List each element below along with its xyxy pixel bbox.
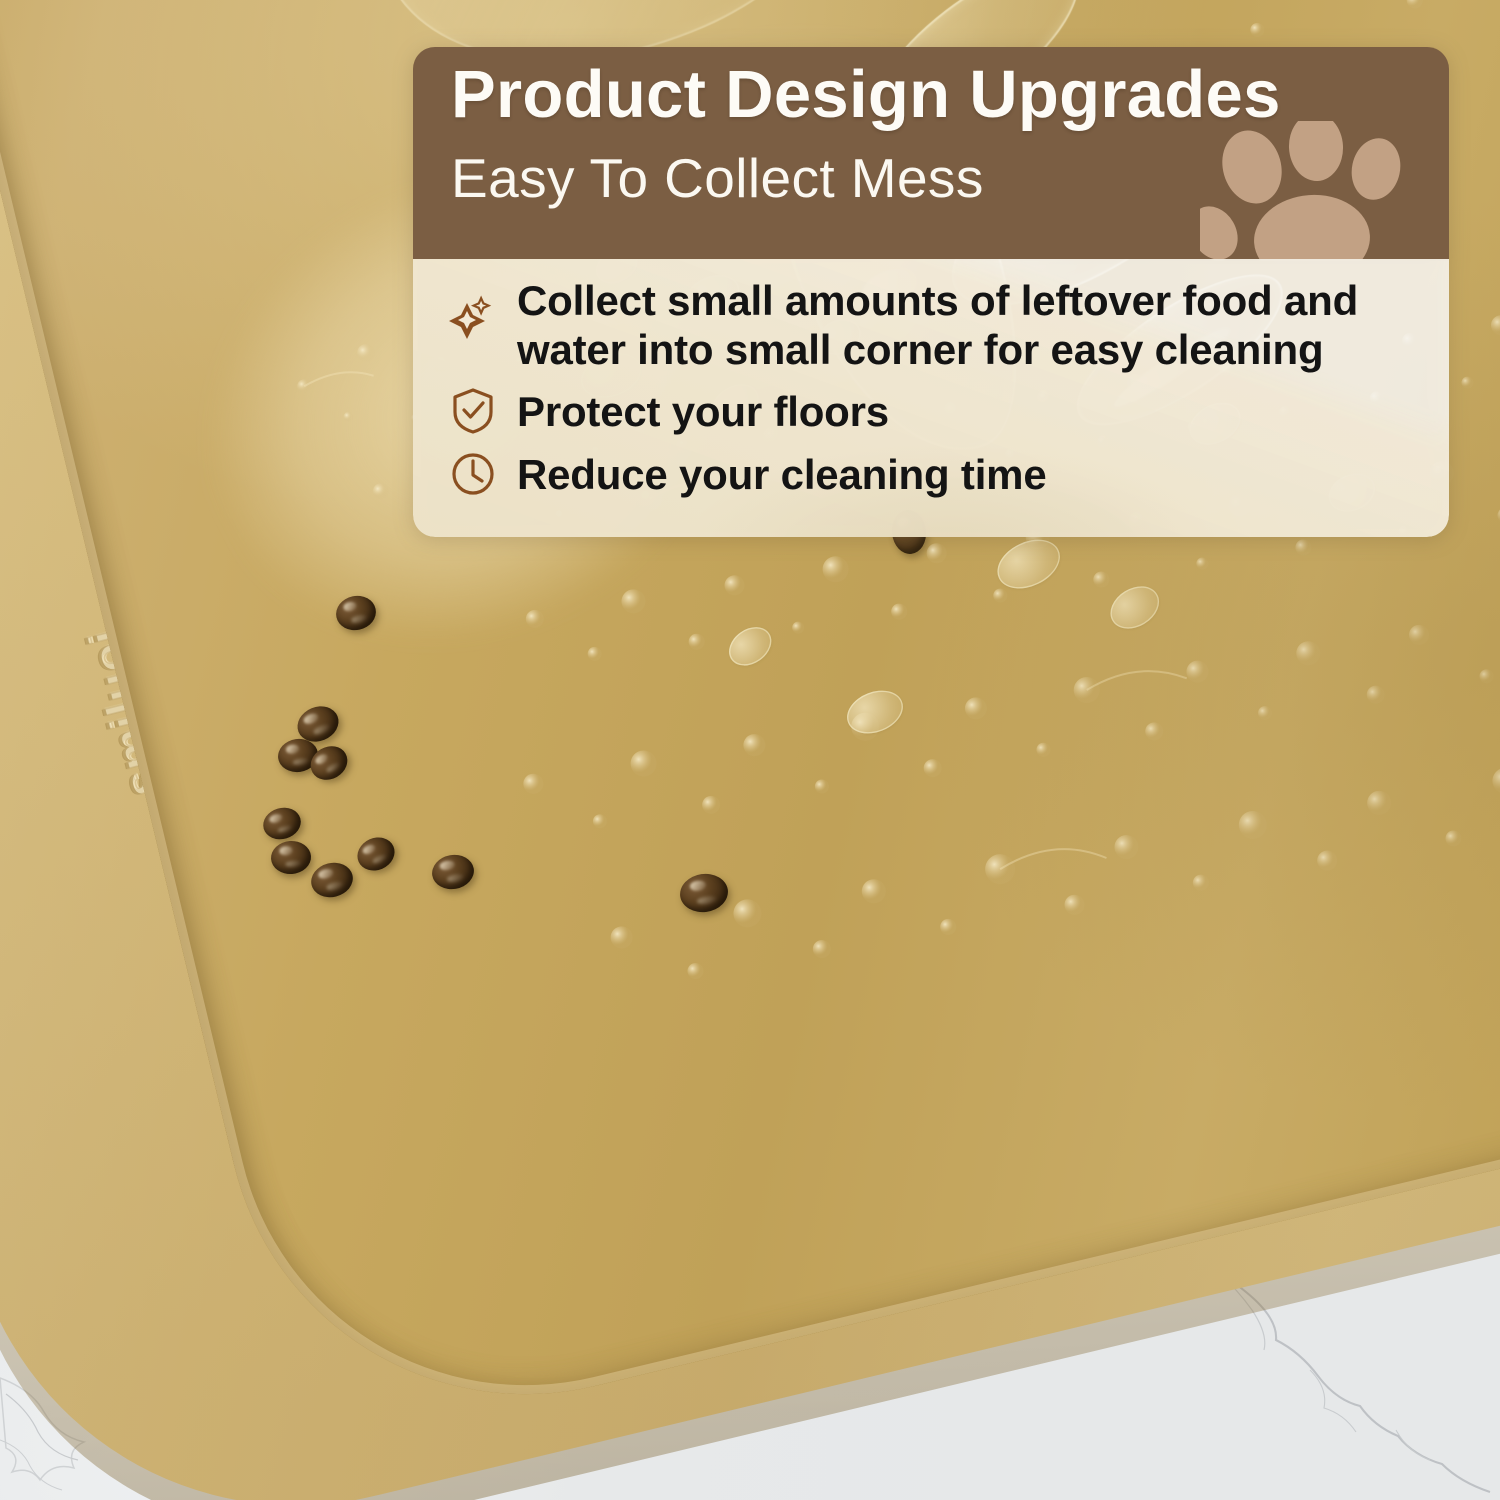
list-item-label: Protect your floors xyxy=(517,384,889,437)
card-title: Product Design Upgrades xyxy=(451,61,1449,129)
card-body-panel: Collect small amounts of leftover food a… xyxy=(413,259,1449,537)
shield-check-icon xyxy=(447,384,499,436)
list-item-label: Collect small amounts of leftover food a… xyxy=(517,277,1419,374)
list-item-label: Reduce your cleaning time xyxy=(517,447,1046,500)
list-item: Reduce your cleaning time xyxy=(447,447,1419,500)
sparkle-icon xyxy=(447,289,499,341)
water-droplet xyxy=(989,530,1068,598)
card-header: Product Design Upgrades Easy To Collect … xyxy=(413,47,1449,259)
list-item: Collect small amounts of leftover food a… xyxy=(447,277,1419,374)
list-item: Protect your floors xyxy=(447,384,1419,437)
water-droplet xyxy=(1103,578,1167,638)
feature-bullet-list: Collect small amounts of leftover food a… xyxy=(413,259,1449,500)
product-photo-scene: smiluoi xyxy=(0,0,1500,1500)
water-droplet xyxy=(722,619,779,673)
feature-callout-card: Product Design Upgrades Easy To Collect … xyxy=(413,47,1449,537)
card-subtitle: Easy To Collect Mess xyxy=(451,151,1449,206)
clock-icon xyxy=(447,447,499,499)
water-droplet xyxy=(841,683,910,741)
